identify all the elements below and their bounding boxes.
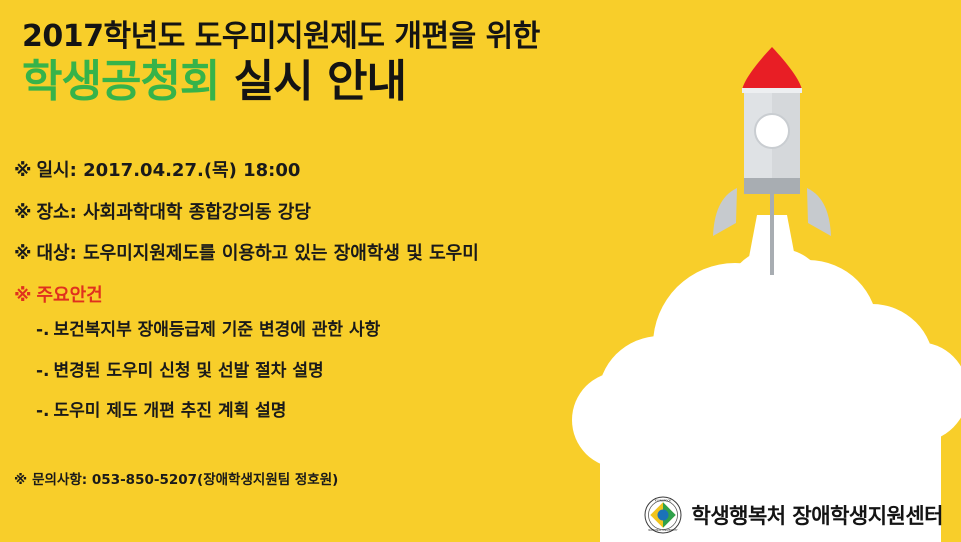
bullet-mark-icon: ※: [14, 160, 32, 181]
agenda-heading-label: 주요안건: [37, 285, 103, 306]
university-seal-icon: KYUNGPOOK NATIONAL UNIVERSITY: [644, 496, 682, 534]
agenda-item: -.도우미 제도 개편 추진 계획 설명: [36, 401, 654, 421]
detail-row-audience: ※대상: 도우미지원제도를 이용하고 있는 장애학생 및 도우미: [14, 243, 654, 265]
contact-text: 문의사항: 053-850-5207(장애학생지원팀 정호원): [32, 472, 338, 488]
agenda-item-label: 도우미 제도 개편 추진 계획 설명: [54, 401, 287, 421]
rocket-illustration: [713, 47, 831, 275]
detail-value-location: 사회과학대학 종합강의동 강당: [83, 202, 311, 223]
detail-value-audience: 도우미지원제도를 이용하고 있는 장애학생 및 도우미: [83, 243, 479, 264]
title-rest-text: 실시 안내: [219, 56, 406, 107]
bullet-mark-icon: ※: [14, 202, 32, 223]
detail-value-datetime: 2017.04.27.(목) 18:00: [83, 160, 300, 181]
agenda-list: -.보건복지부 장애등급제 기준 변경에 관한 사항 -.변경된 도우미 신청 …: [14, 320, 654, 421]
dash-mark-icon: -.: [36, 401, 50, 421]
agenda-heading: ※주요안건: [14, 285, 654, 307]
bullet-mark-icon: ※: [14, 243, 32, 264]
poster-canvas: 2017학년도 도우미지원제도 개편을 위한 학생공청회 실시 안내 ※일시: …: [0, 0, 961, 542]
title-line-2: 학생공청회 실시 안내: [22, 58, 540, 106]
svg-text:KYUNGPOOK: KYUNGPOOK: [654, 498, 671, 502]
bullet-mark-icon: ※: [14, 285, 32, 306]
detail-label-audience: 대상:: [37, 243, 77, 264]
detail-row-location: ※장소: 사회과학대학 종합강의동 강당: [14, 202, 654, 224]
organization-name: 학생행복처 장애학생지원센터: [692, 500, 943, 530]
title-line-1: 2017학년도 도우미지원제도 개편을 위한: [22, 20, 540, 54]
organization-footer: KYUNGPOOK NATIONAL UNIVERSITY 학생행복처 장애학생…: [644, 496, 943, 534]
dash-mark-icon: -.: [36, 320, 50, 340]
agenda-item: -.보건복지부 장애등급제 기준 변경에 관한 사항: [36, 320, 654, 340]
detail-label-datetime: 일시:: [37, 160, 77, 181]
agenda-item-label: 변경된 도우미 신청 및 선발 절차 설명: [54, 361, 324, 381]
dash-mark-icon: -.: [36, 361, 50, 381]
poster-title: 2017학년도 도우미지원제도 개편을 위한 학생공청회 실시 안내: [22, 20, 540, 106]
contact-line: ※문의사항: 053-850-5207(장애학생지원팀 정호원): [14, 468, 338, 488]
rocket-exhaust: [739, 215, 805, 310]
poster-details: ※일시: 2017.04.27.(목) 18:00 ※장소: 사회과학대학 종합…: [14, 160, 654, 442]
bullet-mark-icon: ※: [14, 472, 27, 488]
svg-text:NATIONAL UNIVERSITY: NATIONAL UNIVERSITY: [648, 528, 678, 532]
agenda-item-label: 보건복지부 장애등급제 기준 변경에 관한 사항: [54, 320, 381, 340]
agenda-item: -.변경된 도우미 신청 및 선발 절차 설명: [36, 361, 654, 381]
detail-label-location: 장소:: [37, 202, 77, 223]
detail-row-datetime: ※일시: 2017.04.27.(목) 18:00: [14, 160, 654, 182]
title-highlight-text: 학생공청회: [22, 56, 219, 107]
